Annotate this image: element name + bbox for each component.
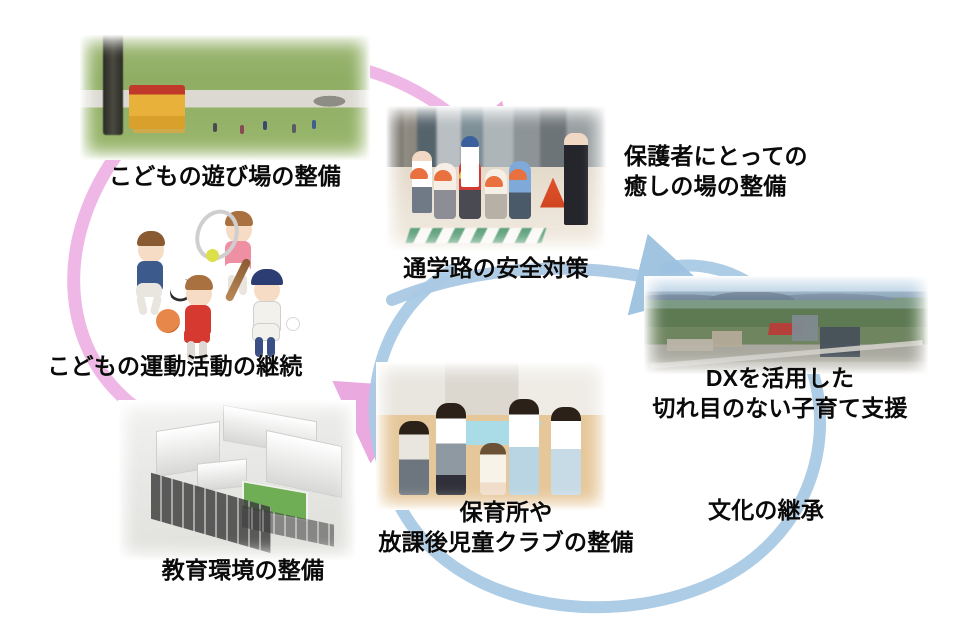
diagram-canvas: こどもの遊び場の整備 通学路の安全対策 保護者にとっての 癒しの場の整備 こども…: [0, 0, 960, 640]
label-school-route-safety: 通学路の安全対策: [374, 254, 618, 284]
photo-playground: [80, 35, 370, 160]
photo-nursery-room: [376, 362, 606, 510]
photo-aerial-city: [644, 276, 928, 374]
label-playground: こどもの遊び場の整備: [82, 162, 368, 192]
clipart-sports-children: [110, 205, 350, 355]
label-guardian-healing: 保護者にとっての 癒しの場の整備: [624, 142, 924, 202]
label-sports-continuation: こどもの運動活動の継続: [12, 352, 338, 382]
clipart-baseball: [286, 317, 300, 331]
label-nursery-afterschool: 保育所や 放課後児童クラブの整備: [336, 498, 676, 558]
photo-school-route: [386, 106, 606, 251]
clipart-basketball: [156, 309, 180, 333]
clipart-tennis-ball: [206, 249, 219, 262]
label-dx-childcare: DXを活用した 切れ目のない子育て支援: [612, 364, 948, 424]
label-culture-inheritance: 文化の継承: [676, 496, 856, 526]
label-education-environment: 教育環境の整備: [132, 556, 354, 586]
photo-school-campus: [118, 400, 356, 560]
